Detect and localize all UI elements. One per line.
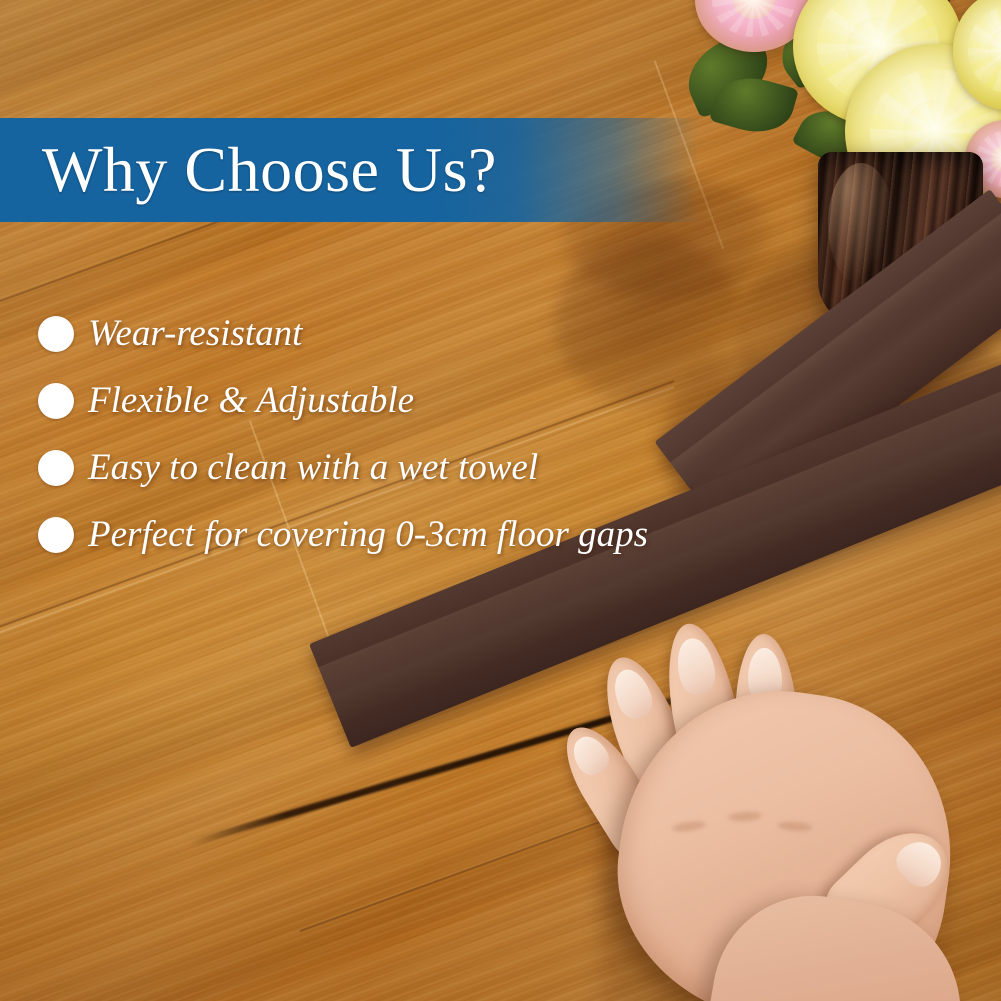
fingernail	[607, 665, 657, 724]
fingernail	[673, 635, 719, 697]
bullet-icon	[38, 383, 74, 419]
list-item: Easy to clean with a wet towel	[38, 434, 648, 501]
page-title: Why Choose Us?	[42, 138, 497, 202]
bullet-icon	[38, 517, 74, 553]
title-banner: Why Choose Us?	[0, 118, 700, 222]
feature-label: Easy to clean with a wet towel	[88, 449, 538, 486]
product-feature-image: Why Choose Us? Wear-resistant Flexible &…	[0, 0, 1001, 1001]
list-item: Wear-resistant	[38, 300, 648, 367]
feature-list: Wear-resistant Flexible & Adjustable Eas…	[38, 300, 648, 568]
list-item: Flexible & Adjustable	[38, 367, 648, 434]
bullet-icon	[38, 316, 74, 352]
list-item: Perfect for covering 0-3cm floor gaps	[38, 501, 648, 568]
hand	[560, 600, 1001, 1001]
feature-label: Wear-resistant	[88, 315, 302, 352]
feature-label: Flexible & Adjustable	[88, 382, 414, 419]
feature-label: Perfect for covering 0-3cm floor gaps	[88, 516, 648, 553]
bullet-icon	[38, 450, 74, 486]
